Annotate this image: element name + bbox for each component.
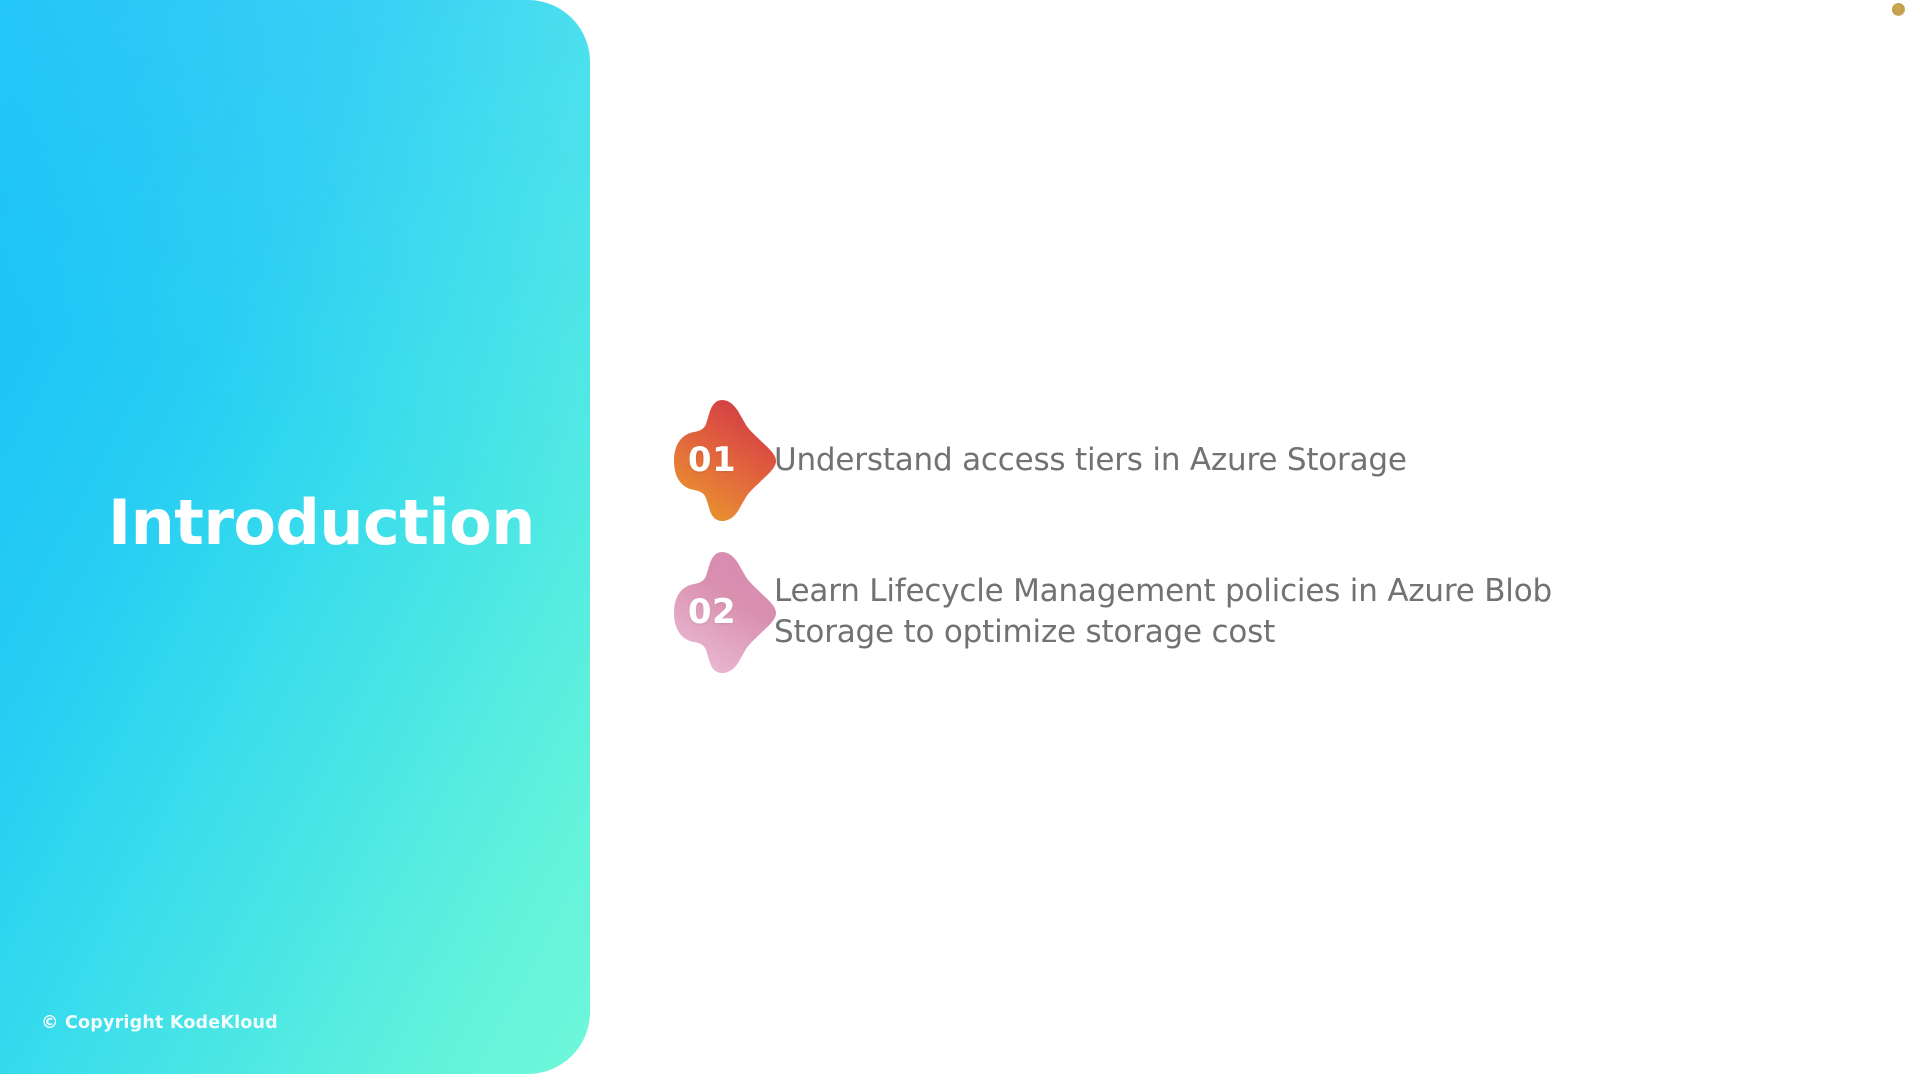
number-badge-01: 01: [672, 398, 778, 522]
page-title: Introduction: [108, 492, 535, 554]
list-item: 01 Understand access tiers in Azure Stor…: [672, 398, 1852, 522]
list-item: 02 Learn Lifecycle Management policies i…: [672, 550, 1852, 674]
copyright-notice: © Copyright KodeKloud: [41, 1013, 278, 1033]
bullet-list: 01 Understand access tiers in Azure Stor…: [672, 398, 1852, 674]
bullet-text: Learn Lifecycle Management policies in A…: [774, 571, 1654, 653]
number-badge-02: 02: [672, 550, 778, 674]
badge-number-label: 02: [672, 595, 752, 629]
badge-number-label: 01: [672, 443, 752, 477]
bullet-text: Understand access tiers in Azure Storage: [774, 440, 1407, 481]
corner-dot-icon: [1892, 3, 1905, 16]
slide-root: Introduction © Copyright KodeKloud: [0, 0, 1920, 1080]
